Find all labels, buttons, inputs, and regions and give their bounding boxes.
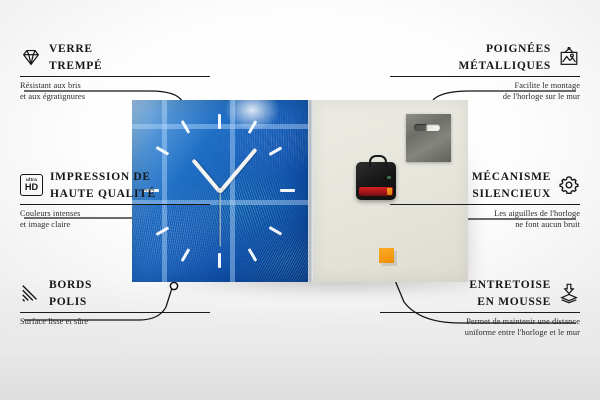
feature-title: ENTRETOISE EN MOUSSE xyxy=(469,276,551,310)
title-line: MÉCANISME xyxy=(472,171,551,183)
feature-header: VERRE TREMPÉ xyxy=(20,40,210,74)
divider xyxy=(20,76,210,77)
feature-title: BORDS POLIS xyxy=(49,276,92,310)
divider xyxy=(390,204,580,205)
title-line: HAUTE QUALITÉ xyxy=(50,188,156,200)
ultra-hd-large-label: HD xyxy=(25,183,38,192)
hour-marker xyxy=(218,114,221,129)
feature-title: IMPRESSION DE HAUTE QUALITÉ xyxy=(50,168,156,202)
foam-spacer xyxy=(379,248,394,263)
feature-header: ultra HD IMPRESSION DE HAUTE QUALITÉ xyxy=(20,168,210,202)
divider xyxy=(20,204,210,205)
infographic-canvas: VERRE TREMPÉ Résistant aux bris et aux é… xyxy=(0,0,600,400)
title-line: BORDS xyxy=(49,279,92,291)
second-hand xyxy=(219,191,220,247)
feature-title: MÉCANISME SILENCIEUX xyxy=(472,168,551,202)
title-line: VERRE xyxy=(49,43,93,55)
subtitle-line: Permet de maintenir une distance xyxy=(466,317,580,326)
feature-poignees-metalliques: POIGNÉES MÉTALLIQUES Facilite le montage… xyxy=(390,40,580,102)
feature-header: BORDS POLIS xyxy=(20,276,210,310)
title-line: SILENCIEUX xyxy=(472,188,551,200)
mechanism-hanging-loop xyxy=(369,155,387,167)
feature-subtitle: Surface lisse et sûre xyxy=(20,316,210,327)
feature-header: POIGNÉES MÉTALLIQUES xyxy=(390,40,580,74)
title-line: POIGNÉES xyxy=(486,43,551,55)
title-line: IMPRESSION DE xyxy=(50,171,151,183)
title-line: TREMPÉ xyxy=(49,60,102,72)
hour-marker xyxy=(280,189,295,192)
subtitle-line: Résistant aux bris xyxy=(20,81,81,90)
ultra-hd-icon: ultra HD xyxy=(20,174,43,196)
title-line: MÉTALLIQUES xyxy=(459,60,551,72)
title-line: ENTRETOISE xyxy=(469,279,551,291)
subtitle-line: et image claire xyxy=(20,220,70,229)
subtitle-line: uniforme entre l'horloge et le mur xyxy=(465,328,580,337)
subtitle-line: ne font aucun bruit xyxy=(515,220,580,229)
polished-edge-icon xyxy=(20,282,42,304)
subtitle-line: et aux égratignures xyxy=(20,92,85,101)
subtitle-line: Les aiguilles de l'horloge xyxy=(494,209,580,218)
feature-subtitle: Les aiguilles de l'horloge ne font aucun… xyxy=(390,208,580,230)
subtitle-line: Surface lisse et sûre xyxy=(20,317,88,326)
subtitle-line: Couleurs intenses xyxy=(20,209,80,218)
hanging-frame-icon xyxy=(558,46,580,68)
feature-subtitle: Permet de maintenir une distance uniform… xyxy=(380,316,580,338)
subtitle-line: Facilite le montage xyxy=(515,81,581,90)
divider xyxy=(20,312,210,313)
feature-title: VERRE TREMPÉ xyxy=(49,40,102,74)
feature-mecanisme-silencieux: MÉCANISME SILENCIEUX Les aiguilles de l'… xyxy=(390,168,580,230)
title-line: POLIS xyxy=(49,296,87,308)
hanger-keyhole-slot xyxy=(414,124,440,131)
hour-marker xyxy=(218,253,221,268)
title-line: EN MOUSSE xyxy=(477,296,551,308)
feature-header: ENTRETOISE EN MOUSSE xyxy=(380,276,580,310)
feature-header: MÉCANISME SILENCIEUX xyxy=(390,168,580,202)
divider xyxy=(380,312,580,313)
divider xyxy=(390,76,580,77)
subtitle-line: de l'horloge sur le mur xyxy=(503,92,580,101)
metal-hanger xyxy=(406,114,451,162)
feature-bords-polis: BORDS POLIS Surface lisse et sûre xyxy=(20,276,210,327)
clock-pivot xyxy=(218,188,223,193)
gear-icon xyxy=(558,174,580,196)
battery xyxy=(359,187,393,196)
feature-verre-trempe: VERRE TREMPÉ Résistant aux bris et aux é… xyxy=(20,40,210,102)
diamond-icon xyxy=(20,46,42,68)
feature-subtitle: Résistant aux bris et aux égratignures xyxy=(20,80,210,102)
feature-subtitle: Couleurs intenses et image claire xyxy=(20,208,210,230)
feature-impression-haute-qualite: ultra HD IMPRESSION DE HAUTE QUALITÉ Cou… xyxy=(20,168,210,230)
feature-title: POIGNÉES MÉTALLIQUES xyxy=(459,40,551,74)
foam-spacer-icon xyxy=(558,282,580,304)
feature-subtitle: Facilite le montage de l'horloge sur le … xyxy=(390,80,580,102)
feature-entretoise-en-mousse: ENTRETOISE EN MOUSSE Permet de maintenir… xyxy=(380,276,580,338)
